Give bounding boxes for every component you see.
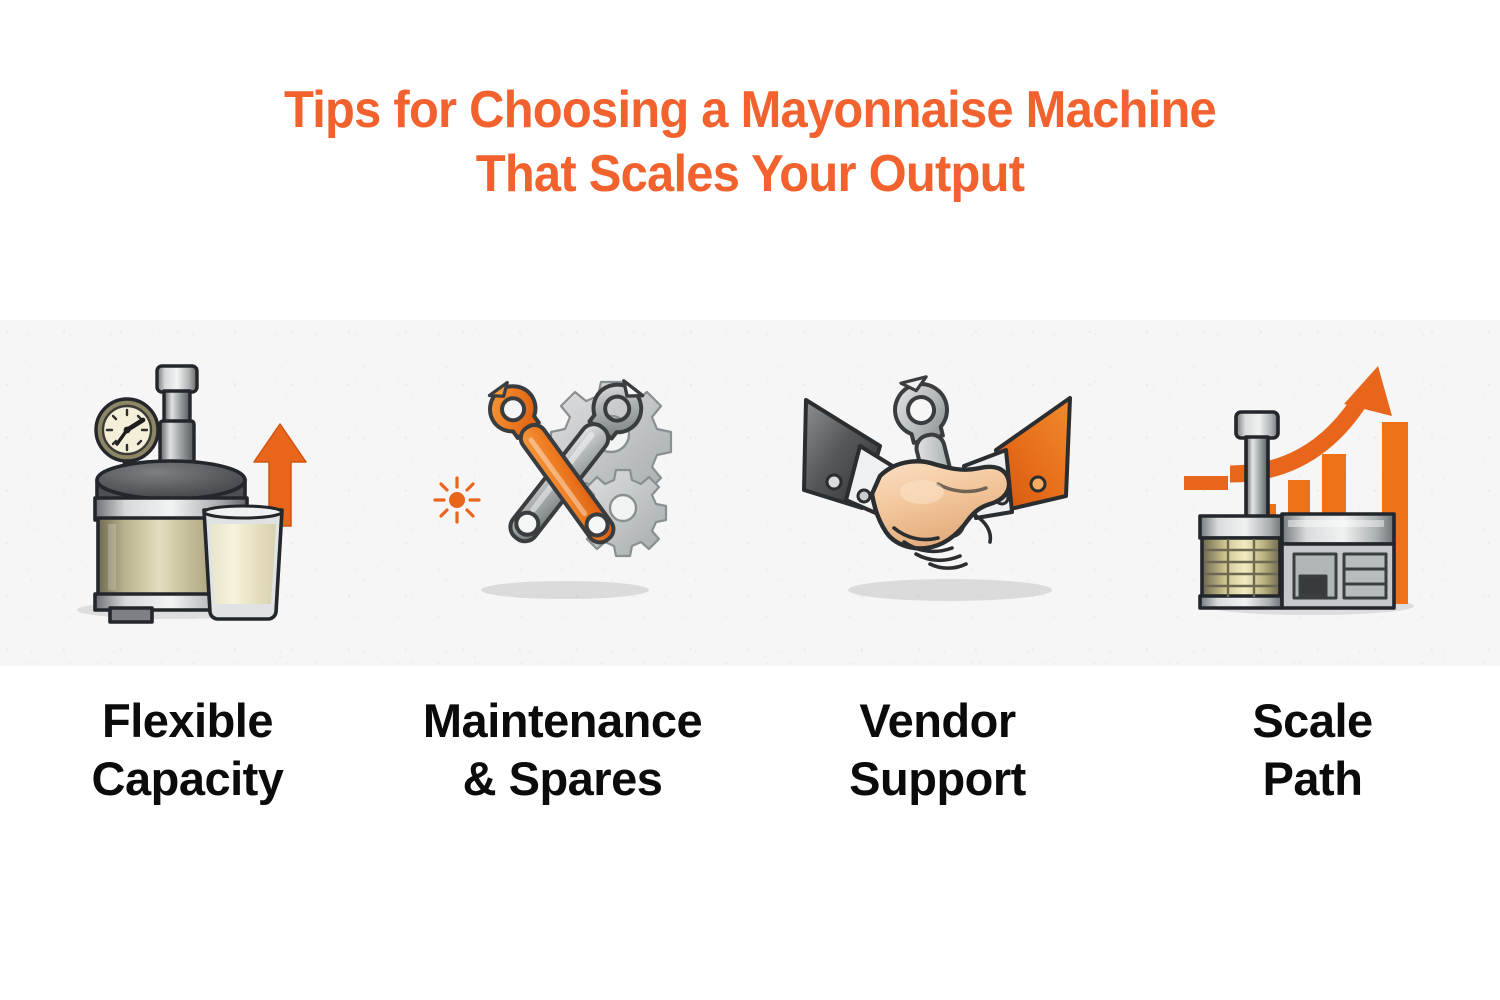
feature-column-vendor-support: Vendor Support xyxy=(750,320,1125,840)
page-title: Tips for Choosing a Mayonnaise Machine T… xyxy=(0,0,1500,206)
mayonnaise-glass xyxy=(204,510,282,619)
title-line-2: That Scales Your Output xyxy=(45,142,1455,206)
feature-column-flexible-capacity: Flexible Capacity xyxy=(0,320,375,840)
motor-shaft xyxy=(157,366,197,467)
tank-highlight xyxy=(108,524,116,590)
title-line-1: Tips for Choosing a Mayonnaise Machine xyxy=(45,78,1455,142)
feature-columns: Flexible Capacity xyxy=(0,320,1500,840)
drop-shadow xyxy=(848,579,1052,601)
feature-column-maintenance-spares: Maintenance & Spares xyxy=(375,320,750,840)
feature-column-scale-path: Scale Path xyxy=(1125,320,1500,840)
feature-label-flexible-capacity: Flexible Capacity xyxy=(92,692,284,808)
orange-sparkle xyxy=(435,478,479,522)
orange-dash xyxy=(1184,476,1228,490)
cabinet-highlight xyxy=(1288,520,1384,527)
factory-machine-with-growth-chart-icon xyxy=(1125,320,1500,666)
glass-rim xyxy=(204,506,282,518)
feature-label-maintenance-spares: Maintenance & Spares xyxy=(423,692,702,808)
feature-label-vendor-support: Vendor Support xyxy=(849,692,1026,808)
handshake-with-wrench-icon xyxy=(750,320,1125,666)
drop-shadow xyxy=(481,581,649,599)
mixing-tank-with-gauge-and-up-arrow-icon xyxy=(0,320,375,666)
feature-label-scale-path: Scale Path xyxy=(1252,692,1372,808)
crossed-wrenches-with-gears-icon xyxy=(375,320,750,666)
